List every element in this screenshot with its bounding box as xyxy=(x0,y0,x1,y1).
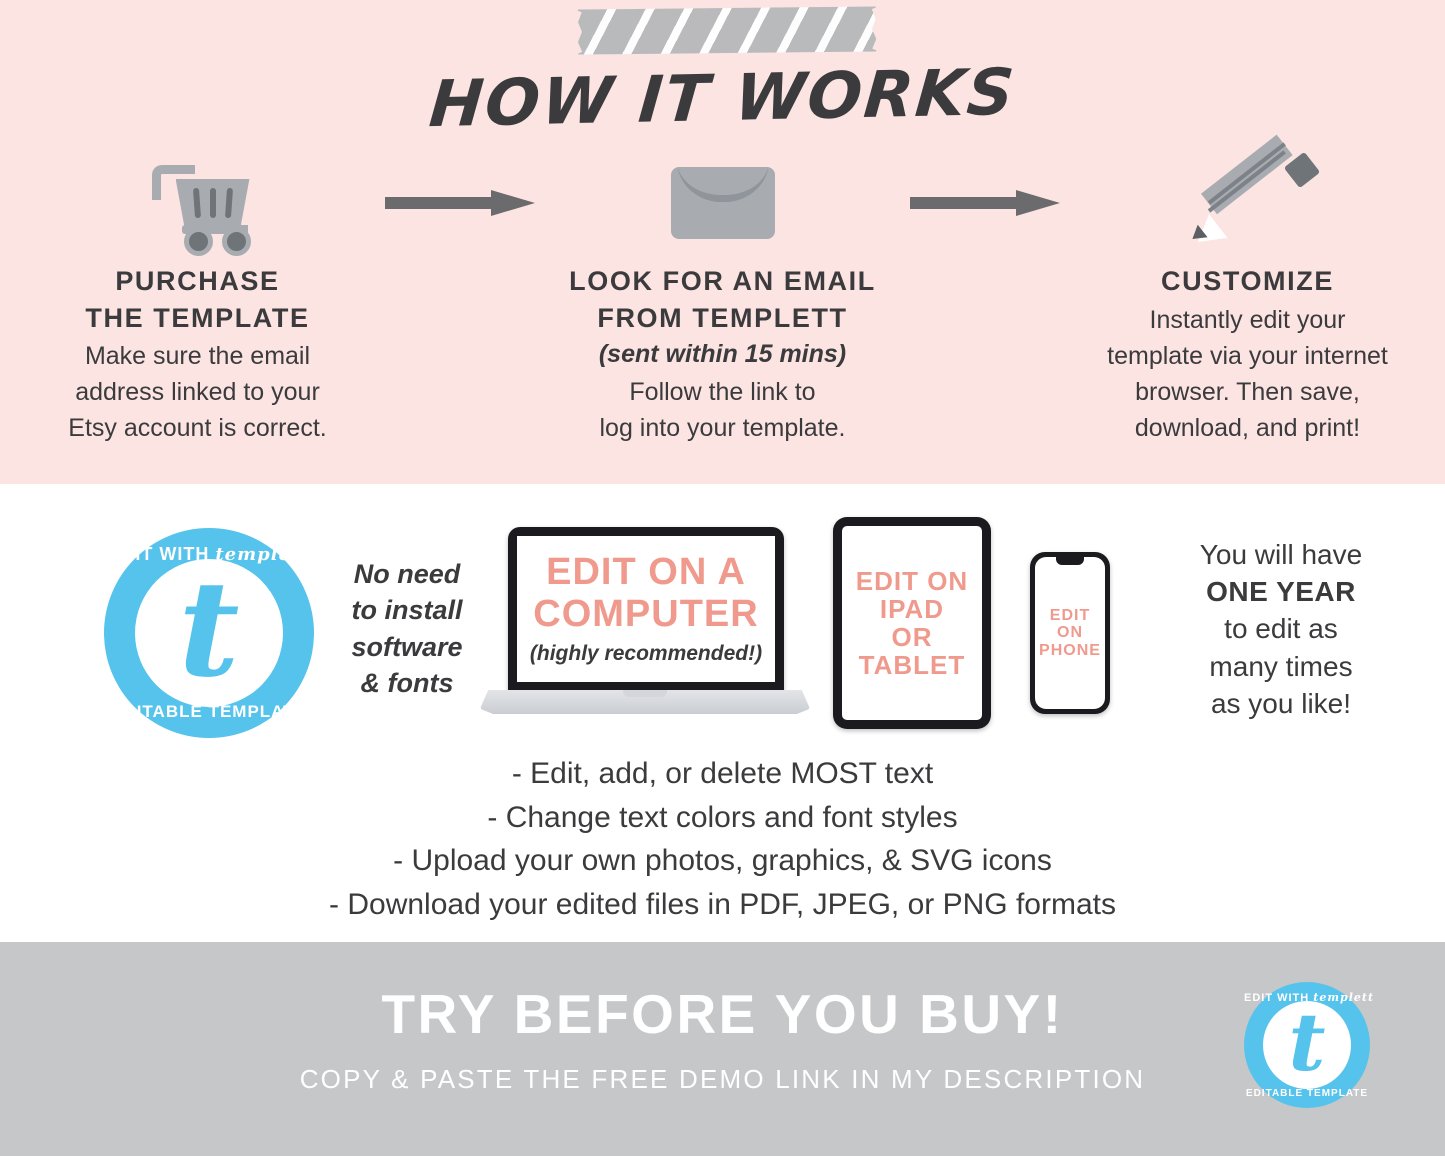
step-body-line4: download, and print! xyxy=(1068,410,1428,446)
laptop-device: EDIT ON A COMPUTER (highly recommended!) xyxy=(480,527,810,727)
envelope-icon xyxy=(671,167,775,239)
badge-letter-t: t xyxy=(104,564,314,696)
step-look-for-email: LOOK FOR AN EMAIL FROM TEMPLETT (sent wi… xyxy=(543,150,903,446)
one-year-line3: to edit as xyxy=(1126,610,1436,647)
phone-text-line3: PHONE xyxy=(1039,642,1101,659)
step-body-line3: browser. Then save, xyxy=(1068,374,1428,410)
step-body-line2: log into your template. xyxy=(543,410,903,446)
laptop-notch xyxy=(623,690,667,697)
phone-notch xyxy=(1056,557,1084,565)
no-install-line2: to install xyxy=(332,592,482,628)
hero-section: HOW IT WORKS xyxy=(0,0,1445,484)
laptop-text-line2: COMPUTER xyxy=(533,594,758,635)
washi-tape-decoration xyxy=(578,6,876,54)
step-body-line1: Make sure the email xyxy=(18,338,378,374)
tablet-screen: EDIT ON IPAD OR TABLET xyxy=(842,526,982,720)
no-install-text: No need to install software & fonts xyxy=(332,556,482,702)
no-install-line3: software xyxy=(332,629,482,665)
tablet-text-line4: TABLET xyxy=(856,651,968,679)
step-heading-line2: FROM TEMPLETT xyxy=(543,300,903,337)
tablet-device: EDIT ON IPAD OR TABLET xyxy=(833,517,991,729)
badge-letter-t: t xyxy=(1244,1002,1370,1082)
step-body: Make sure the email address linked to yo… xyxy=(18,338,378,446)
phone-text-line2: ON xyxy=(1039,624,1101,641)
step-icon-slot xyxy=(18,150,378,255)
laptop-text-line1: EDIT ON A xyxy=(546,552,746,593)
step-body-line1: Instantly edit your xyxy=(1068,302,1428,338)
arrow-right-icon-2 xyxy=(903,150,1068,255)
step-body-line2: template via your internet xyxy=(1068,338,1428,374)
one-year-line1: You will have xyxy=(1126,536,1436,573)
badge-bottom-arc-text: EDITABLE TEMPLATE xyxy=(1244,1088,1370,1099)
tablet-text-line1: EDIT ON xyxy=(856,567,968,595)
phone-frame: EDIT ON PHONE xyxy=(1030,552,1110,714)
list-item: - Change text colors and font styles xyxy=(0,796,1445,840)
no-install-line4: & fonts xyxy=(332,665,482,701)
footer-section: TRY BEFORE YOU BUY! COPY & PASTE THE FRE… xyxy=(0,942,1445,1156)
step-heading: PURCHASE THE TEMPLATE xyxy=(18,263,378,336)
step-heading: CUSTOMIZE xyxy=(1068,263,1428,300)
steps-row: PURCHASE THE TEMPLATE Make sure the emai… xyxy=(0,150,1445,470)
step-body-line2: address linked to your xyxy=(18,374,378,410)
tablet-frame: EDIT ON IPAD OR TABLET xyxy=(833,517,991,729)
step-heading-line1: LOOK FOR AN EMAIL xyxy=(543,263,903,300)
laptop-note: (highly recommended!) xyxy=(530,642,762,666)
phone-device: EDIT ON PHONE xyxy=(1030,552,1110,714)
footer-subtitle: COPY & PASTE THE FREE DEMO LINK IN MY DE… xyxy=(0,1064,1445,1095)
step-body: Instantly edit your template via your in… xyxy=(1068,302,1428,446)
step-heading: LOOK FOR AN EMAIL FROM TEMPLETT xyxy=(543,263,903,336)
step-icon-slot xyxy=(543,150,903,255)
laptop-lid: EDIT ON A COMPUTER (highly recommended!) xyxy=(508,527,784,694)
step-heading-line1: PURCHASE xyxy=(18,263,378,300)
list-item: - Download your edited files in PDF, JPE… xyxy=(0,883,1445,927)
one-year-text: You will have ONE YEAR to edit as many t… xyxy=(1126,536,1436,722)
step-heading-line2: THE TEMPLATE xyxy=(18,300,378,337)
tablet-text-line3: OR xyxy=(856,623,968,651)
tablet-text-line2: IPAD xyxy=(856,595,968,623)
list-item: - Upload your own photos, graphics, & SV… xyxy=(0,839,1445,883)
one-year-emphasis: ONE YEAR xyxy=(1206,576,1356,607)
page-title: HOW IT WORKS xyxy=(0,47,1445,151)
step-body: Follow the link to log into your templat… xyxy=(543,374,903,446)
one-year-line4: many times xyxy=(1126,648,1436,685)
infographic-page: HOW IT WORKS xyxy=(0,0,1445,1156)
badge-bottom-arc-text: EDITABLE TEMPLATE xyxy=(104,702,314,722)
templett-badge-small: EDIT WITH templett t EDITABLE TEMPLATE xyxy=(1244,982,1370,1108)
shopping-cart-icon xyxy=(144,157,252,249)
arrow-right-icon-1 xyxy=(378,150,543,255)
footer-title: TRY BEFORE YOU BUY! xyxy=(0,982,1445,1046)
phone-screen: EDIT ON PHONE xyxy=(1035,557,1105,709)
step-heading-line1: CUSTOMIZE xyxy=(1068,263,1428,300)
templett-badge-large: EDIT WITH templett t EDITABLE TEMPLATE xyxy=(104,528,314,738)
step-body-line1: Follow the link to xyxy=(543,374,903,410)
step-customize: CUSTOMIZE Instantly edit your template v… xyxy=(1068,150,1428,446)
feature-bullet-list: - Edit, add, or delete MOST text - Chang… xyxy=(0,752,1445,926)
laptop-screen: EDIT ON A COMPUTER (highly recommended!) xyxy=(517,536,775,682)
step-purchase: PURCHASE THE TEMPLATE Make sure the emai… xyxy=(18,150,378,446)
step-note: (sent within 15 mins) xyxy=(543,336,903,372)
list-item: - Edit, add, or delete MOST text xyxy=(0,752,1445,796)
step-icon-slot xyxy=(1068,150,1428,255)
one-year-line5: as you like! xyxy=(1126,685,1436,722)
pencil-icon xyxy=(1183,153,1313,253)
phone-text-line1: EDIT xyxy=(1039,607,1101,624)
no-install-line1: No need xyxy=(332,556,482,592)
step-body-line3: Etsy account is correct. xyxy=(18,410,378,446)
